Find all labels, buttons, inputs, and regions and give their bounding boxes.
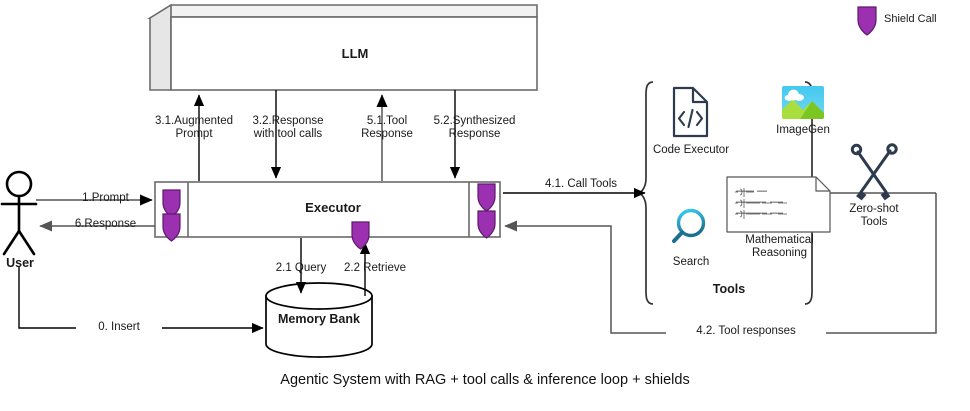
diagram-caption: Agentic System with RAG + tool calls & i… [0,372,970,388]
user-label: User [0,257,40,270]
edge-label-42-tool-responses: 4.2. Tool responses [666,325,826,338]
legend-label: Shield Call [884,13,937,25]
edge-label-32-response-tool-calls: 3.2.Response with tool calls [237,115,339,141]
memory-bank-label: Memory Bank [264,313,374,326]
formula-document-icon[interactable] [727,177,830,232]
diagram-canvas [0,0,970,411]
tool-label-math-reasoning: Mathematical Reasoning [728,234,831,260]
edge-label-22-retrieve: 2.2 Retrieve [330,262,420,275]
edge-label-0-insert: 0. Insert [76,321,162,334]
edge-label-31-augmented-prompt: 3.1.Augmented Prompt [139,115,249,141]
edge-label-6-response: 6.Response [58,218,153,231]
tool-label-image-gen: ImageGen [767,124,839,137]
crossed-wrenches-icon[interactable] [852,145,896,199]
magnifier-icon[interactable] [674,211,704,242]
shield-icon-exec-memory [352,222,369,249]
tool-label-zero-shot-tools: Zero-shot Tools [838,203,910,229]
edge-0-insert [19,266,263,328]
tool-label-search: Search [659,256,723,269]
node-user[interactable] [2,172,36,254]
tools-group-label: Tools [699,283,759,296]
llm-label: LLM [300,47,410,60]
edge-label-51-tool-response: 5.1.Tool Response [343,115,431,141]
tool-label-code-executor: Code Executor [645,144,737,157]
shield-icon-legend [858,7,876,35]
edge-label-1-prompt: 1.Prompt [58,192,153,205]
edge-label-41-call-tools: 4.1. Call Tools [531,178,631,191]
edge-label-52-synthesized-response: 5.2.Synthesized Response [422,115,527,141]
executor-label: Executor [278,201,388,214]
image-picture-icon[interactable] [782,86,824,119]
code-document-icon[interactable] [674,88,707,136]
